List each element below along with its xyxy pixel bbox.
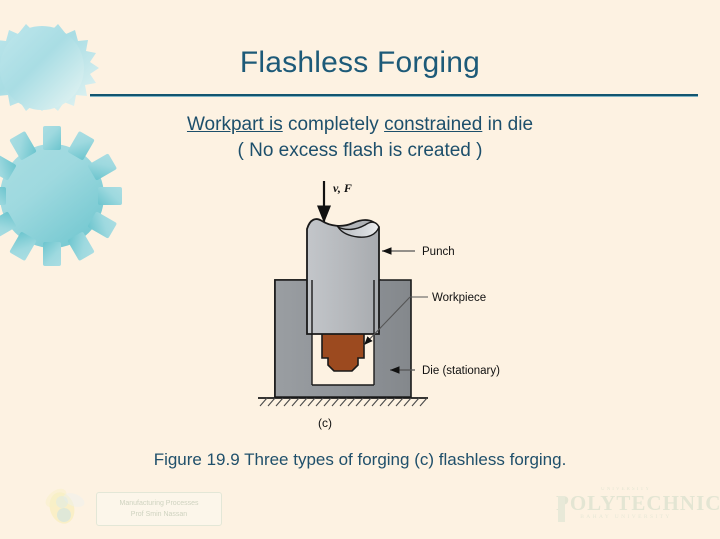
watermark-bar bbox=[558, 496, 565, 522]
watermark-main-text: POLYTECHNIC bbox=[556, 492, 696, 514]
force-label: v, F bbox=[333, 181, 352, 195]
subtitle-block: Workpart is completely constrained in di… bbox=[0, 112, 720, 164]
die-label: Die (stationary) bbox=[422, 365, 500, 377]
footer-course-box: Manufacturing Processes Prof Smin Nassan bbox=[96, 492, 222, 526]
flashless-forging-figure: v, F bbox=[250, 165, 540, 440]
ground-hatching bbox=[260, 398, 427, 406]
subtitle-line-2: ( No excess flash is created ) bbox=[0, 138, 720, 164]
figure-part-label: (c) bbox=[318, 416, 332, 430]
subtitle-underlined-constrained: constrained bbox=[384, 114, 482, 135]
subtitle-plain-completely: completely bbox=[283, 114, 384, 135]
subtitle-underlined-workpart: Workpart is bbox=[187, 114, 283, 135]
page-title: Flashless Forging bbox=[0, 46, 720, 80]
footer-instructor: Prof Smin Nassan bbox=[97, 509, 221, 520]
workpiece-label: Workpiece bbox=[432, 292, 486, 304]
punch-label: Punch bbox=[422, 246, 455, 258]
slide-canvas: Flashless Forging Workpart is completely… bbox=[0, 0, 720, 539]
polytechnic-watermark: UNIVERSITY POLYTECHNIC BAHAY UNIVERSITY bbox=[556, 487, 696, 533]
footer-course: Manufacturing Processes bbox=[97, 498, 221, 509]
subtitle-plain-indie: in die bbox=[482, 114, 533, 135]
title-divider bbox=[90, 94, 698, 97]
figure-caption: Figure 19.9 Three types of forging (c) f… bbox=[0, 450, 720, 470]
forging-diagram: v, F bbox=[250, 165, 540, 440]
